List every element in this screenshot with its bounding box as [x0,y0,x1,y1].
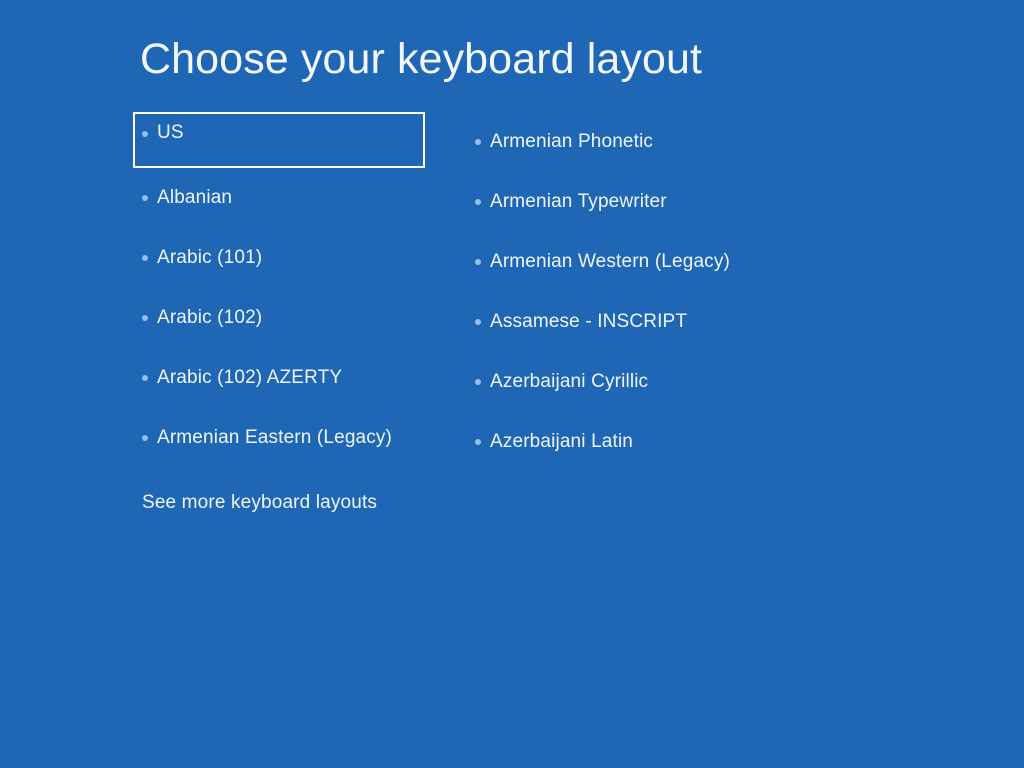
keyboard-layout-option-arabic-102[interactable]: Arabic (102) [133,288,433,348]
keyboard-layout-option-label: Armenian Typewriter [490,191,667,213]
bullet-dot-icon [142,375,148,381]
bullet-dot-icon [475,379,481,385]
keyboard-layout-option-label: US [157,122,184,144]
keyboard-layout-option-azerbaijani-cyrillic[interactable]: Azerbaijani Cyrillic [466,352,826,412]
keyboard-layout-option-azerbaijani-latin[interactable]: Azerbaijani Latin [466,412,826,472]
bullet-dot-icon [142,195,148,201]
keyboard-layout-option-armenian-typewriter[interactable]: Armenian Typewriter [466,172,826,232]
keyboard-layout-option-arabic-102-azerty[interactable]: Arabic (102) AZERTY [133,348,433,408]
keyboard-layout-option-label: Arabic (101) [157,247,262,269]
keyboard-layout-option-label: Azerbaijani Cyrillic [490,371,648,393]
keyboard-layout-option-arabic-101[interactable]: Arabic (101) [133,228,433,288]
bullet-dot-icon [475,139,481,145]
bullet-dot-icon [475,319,481,325]
keyboard-layout-option-label: Arabic (102) AZERTY [157,367,342,389]
keyboard-layout-option-label: Armenian Phonetic [490,131,653,153]
keyboard-layout-option-label: Arabic (102) [157,307,262,329]
keyboard-layout-column-left: US Albanian Arabic (101) Arabic (102) Ar… [133,112,433,468]
see-more-keyboard-layouts-link[interactable]: See more keyboard layouts [142,492,377,514]
keyboard-layout-option-armenian-eastern-legacy[interactable]: Armenian Eastern (Legacy) [133,408,433,468]
bullet-dot-icon [142,255,148,261]
bullet-dot-icon [475,199,481,205]
keyboard-layout-option-armenian-western-legacy[interactable]: Armenian Western (Legacy) [466,232,826,292]
keyboard-layout-option-albanian[interactable]: Albanian [133,168,433,228]
bullet-dot-icon [142,131,148,137]
keyboard-layout-option-armenian-phonetic[interactable]: Armenian Phonetic [466,112,826,172]
keyboard-layout-column-right: Armenian Phonetic Armenian Typewriter Ar… [466,112,826,472]
keyboard-layout-option-label: Armenian Eastern (Legacy) [157,427,392,449]
bullet-dot-icon [142,435,148,441]
keyboard-layout-option-label: Azerbaijani Latin [490,431,633,453]
keyboard-layout-option-label: Armenian Western (Legacy) [490,251,730,273]
keyboard-layout-option-label: Assamese - INSCRIPT [490,311,687,333]
keyboard-layout-option-assamese-inscript[interactable]: Assamese - INSCRIPT [466,292,826,352]
keyboard-layout-screen: Choose your keyboard layout US Albanian … [0,0,1024,768]
bullet-dot-icon [142,315,148,321]
bullet-dot-icon [475,259,481,265]
keyboard-layout-option-label: Albanian [157,187,232,209]
page-title: Choose your keyboard layout [140,36,702,83]
keyboard-layout-option-us[interactable]: US [133,112,425,168]
bullet-dot-icon [475,439,481,445]
